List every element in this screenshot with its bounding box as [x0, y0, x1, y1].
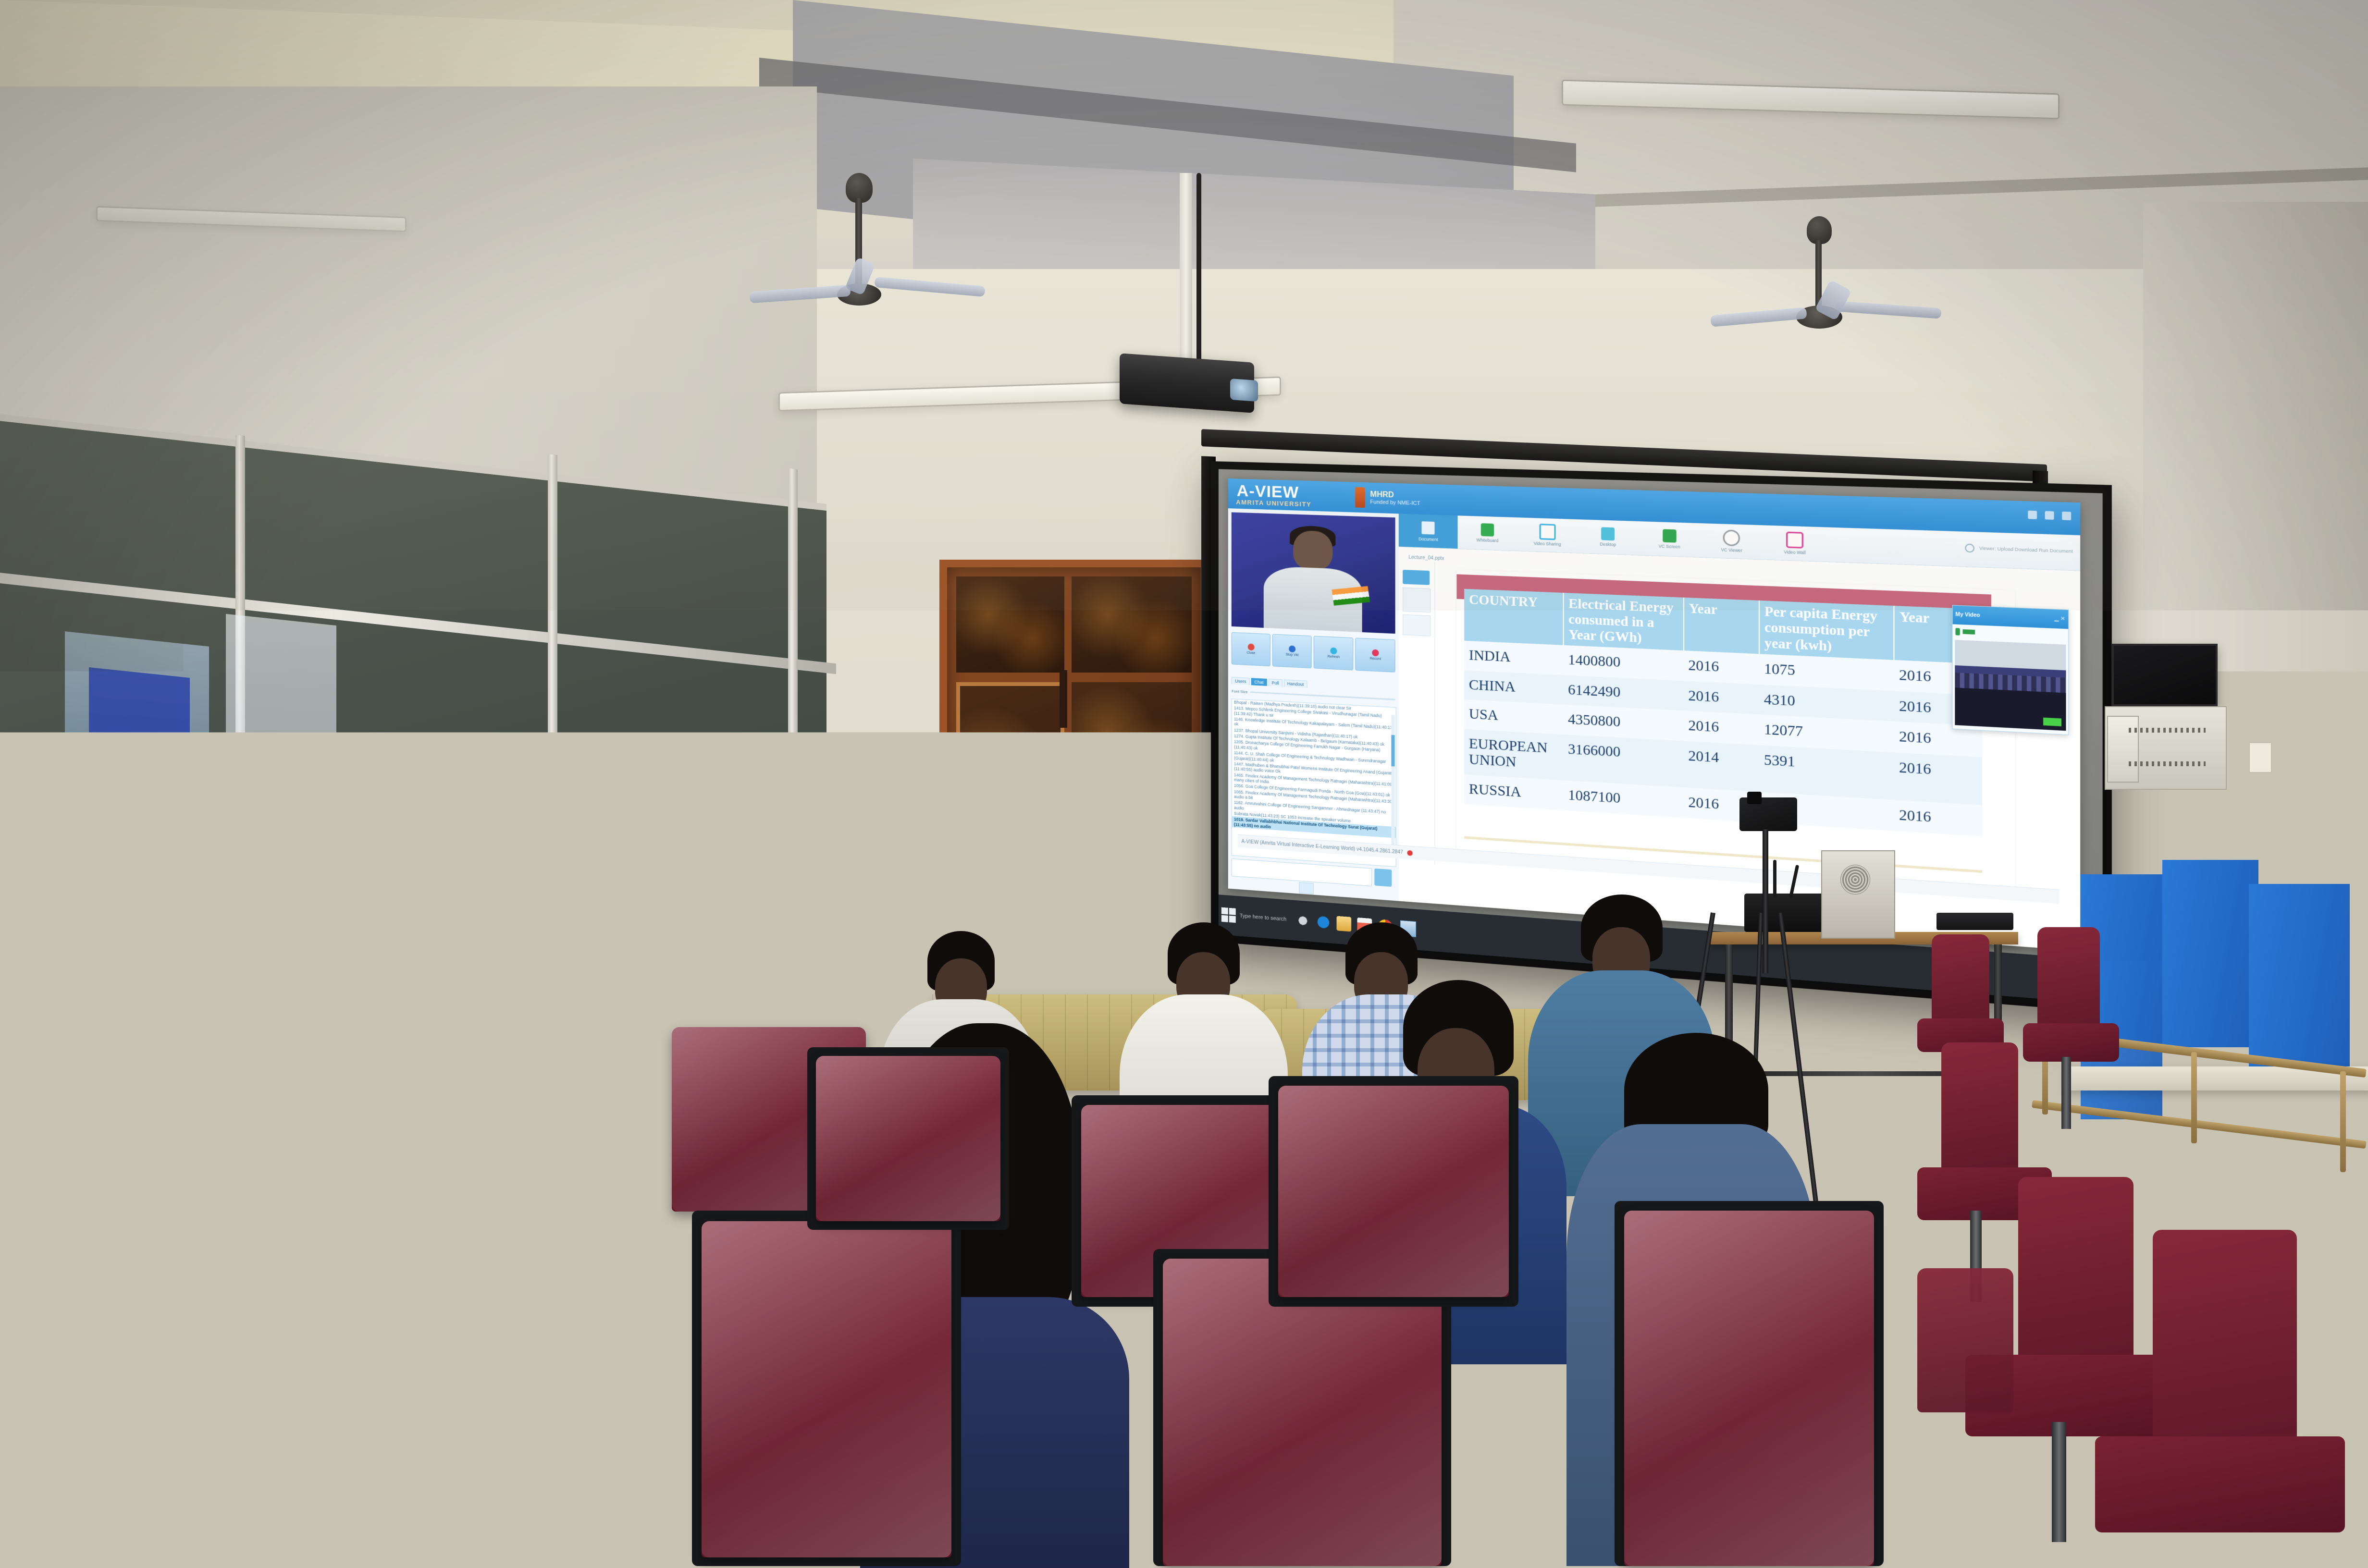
- my-video-title: My Video: [1956, 612, 1980, 619]
- webcam-icon: [625, 854, 648, 881]
- local-camera-feed: [1955, 640, 2066, 731]
- document-name-label: Lecture_04.pptx: [1408, 554, 1444, 561]
- col-country: COUNTRY: [1464, 589, 1563, 645]
- close-icon[interactable]: [2062, 511, 2071, 520]
- mhrd-text: MHRD: [1370, 490, 1394, 499]
- toolbar-tab-desktop[interactable]: Desktop: [1578, 519, 1639, 555]
- stop-video-button[interactable]: Stop Vid: [1272, 634, 1312, 668]
- toolbar-tab-video-wall-label: Video Wall: [1784, 549, 1805, 555]
- office-chair-post: [2052, 1422, 2066, 1542]
- edge-icon[interactable]: [1316, 915, 1331, 931]
- classroom-photo-scene: A-VIEW AMRITA UNIVERSITY MHRD Funded by …: [0, 0, 2368, 1568]
- maximize-icon[interactable]: [2045, 511, 2054, 519]
- office-chair-back: [2037, 927, 2100, 1038]
- desktop-computer: [1821, 850, 1895, 939]
- aview-window[interactable]: A-VIEW AMRITA UNIVERSITY MHRD Funded by …: [1228, 478, 2080, 951]
- pc-fan-grille: [1840, 865, 1870, 894]
- cell-country: RUSSIA: [1464, 774, 1563, 810]
- aview-logo-subtitle: AMRITA UNIVERSITY: [1236, 499, 1311, 507]
- office-chair-back: [1917, 1268, 2013, 1412]
- refresh-label: Refresh: [1328, 655, 1340, 659]
- projector-mount: [1180, 173, 1192, 365]
- toolbar-tab-vc-viewer-label: VC Viewer: [1721, 547, 1742, 553]
- wall-mounted-tv: [2112, 644, 2218, 706]
- record-button[interactable]: Record: [1356, 637, 1395, 672]
- desktop-computer: [0, 942, 62, 1100]
- start-button-icon[interactable]: [1221, 907, 1236, 923]
- energy-consumption-table: COUNTRY Electrical Energy consumed in a …: [1464, 589, 1982, 836]
- document-icon: [1421, 520, 1436, 536]
- add-document-button[interactable]: [1403, 570, 1430, 585]
- sidebar-thumb-slide[interactable]: [1403, 614, 1431, 636]
- audience-silhouettes: [1955, 673, 2066, 693]
- presenter-control-buttons[interactable]: Close Stop Vid Refresh Record: [1232, 632, 1395, 673]
- col-year-1: Year: [1684, 598, 1759, 654]
- cell-country: EUROPEAN UNION: [1464, 729, 1563, 781]
- toolbar-tab-vc-viewer[interactable]: VC Viewer: [1701, 523, 1763, 559]
- video-wall-icon: [1786, 531, 1803, 548]
- desktop-computer: [139, 927, 216, 1086]
- cell-energy: 3166000: [1563, 735, 1683, 787]
- presenter-video-feed[interactable]: [1232, 512, 1395, 634]
- presenter-head: [1293, 530, 1332, 571]
- webcam-icon: [589, 860, 612, 887]
- cell-year-1: 2016: [1684, 711, 1759, 746]
- vc-viewer-icon: [1723, 529, 1740, 546]
- tripod-column: [1763, 829, 1768, 973]
- toolbar-tab-desktop-label: Desktop: [1600, 541, 1616, 547]
- tab-users[interactable]: Users: [1232, 677, 1249, 685]
- close-dot-icon: [1247, 643, 1254, 650]
- network-cabinet-vents: [2129, 761, 2206, 766]
- close-stream-label: Close: [1247, 651, 1256, 655]
- network-cabinet-door: [2107, 716, 2139, 783]
- webcam-icon: [178, 903, 203, 932]
- camera-status-indicator: [2043, 718, 2061, 726]
- viewer-actions-label: Viewer: Upload Download Run Document: [1979, 546, 2073, 554]
- cell-country: CHINA: [1464, 670, 1563, 705]
- video-sharing-icon: [1539, 524, 1555, 540]
- record-dot-icon: [1372, 649, 1379, 656]
- refresh-button[interactable]: Refresh: [1314, 636, 1354, 670]
- toolbar-tab-video-sharing[interactable]: Video Sharing: [1517, 517, 1577, 553]
- vc-screen-icon: [1663, 529, 1676, 542]
- keyboard: [1936, 913, 2013, 930]
- railing-post: [2340, 1071, 2346, 1172]
- mic-toggle[interactable]: [1299, 882, 1314, 894]
- cell-country: USA: [1464, 699, 1563, 735]
- office-chair-seat: [2095, 1436, 2345, 1532]
- recording-indicator-icon: [1407, 850, 1412, 856]
- aview-logo: A-VIEW: [1237, 482, 1312, 501]
- office-chair-back: [2153, 1230, 2297, 1460]
- my-video-panel[interactable]: My Video ▁ ✕: [1952, 605, 2069, 735]
- signal-bar-icon: [1963, 629, 1975, 635]
- cell-year-1: 2014: [1684, 741, 1759, 792]
- toolbar-tab-whiteboard[interactable]: Whiteboard: [1458, 515, 1517, 551]
- toolbar-tab-whiteboard-label: Whiteboard: [1477, 537, 1499, 543]
- refresh-dot-icon: [1330, 647, 1337, 654]
- font-size-label: Font Size: [1232, 689, 1248, 694]
- taskbar-search-label[interactable]: Type here to search: [1240, 913, 1287, 922]
- wall-poster-inner: [89, 667, 190, 745]
- toolbar-tab-vc-screen-label: VC Screen: [1659, 543, 1680, 549]
- file-explorer-icon[interactable]: [1337, 916, 1352, 932]
- record-label: Record: [1370, 657, 1381, 661]
- microphone-icon[interactable]: [1956, 628, 1960, 636]
- wifi-router: [1744, 894, 1831, 932]
- lab-partition: [2162, 860, 2258, 1047]
- search-icon[interactable]: [1965, 543, 1975, 552]
- toolbar-tab-vc-screen[interactable]: VC Screen: [1639, 521, 1701, 557]
- tab-chat[interactable]: Chat: [1251, 678, 1267, 686]
- wall-power-socket: [2249, 742, 2272, 773]
- mhrd-emblem-icon: [1356, 487, 1365, 508]
- cell-year-1: 2016: [1684, 681, 1759, 715]
- presenter-desk-flag: [1332, 586, 1370, 605]
- projector-lens: [1230, 379, 1258, 402]
- office-chair-post: [2061, 1057, 2071, 1129]
- router-antenna: [1773, 860, 1776, 897]
- cortana-icon[interactable]: [1295, 913, 1310, 929]
- sidebar-thumb-library[interactable]: [1403, 588, 1431, 613]
- tab-poll[interactable]: Poll: [1269, 679, 1283, 687]
- railing-post: [2191, 1052, 2197, 1143]
- chat-scrollbar-thumb[interactable]: [1391, 735, 1394, 766]
- presentation-slide: COUNTRY Electrical Energy consumed in a …: [1456, 570, 2015, 896]
- col-per-capita: Per capita Energy consumption per year (…: [1759, 600, 1894, 660]
- ac-run-led: [1115, 888, 1122, 894]
- cell-year-2: 2016: [1894, 800, 1983, 836]
- office-chair-seat: [2023, 1023, 2119, 1062]
- close-stream-button[interactable]: Close: [1232, 632, 1270, 666]
- toolbar-tab-video-wall[interactable]: Video Wall: [1763, 525, 1826, 562]
- toolbar-tab-video-sharing-label: Video Sharing: [1534, 541, 1561, 547]
- font-size-slider[interactable]: [1250, 691, 1395, 700]
- stop-video-label: Stop Vid: [1286, 653, 1299, 657]
- network-cabinet-vents: [2129, 728, 2206, 733]
- my-video-close-icon[interactable]: ▁ ✕: [2055, 616, 2065, 622]
- webcam-icon: [19, 918, 44, 946]
- funded-by-text: Funded by NME-ICT: [1370, 499, 1420, 507]
- toolbar-tab-document[interactable]: Document: [1399, 514, 1457, 549]
- toolbar-tab-document-label: Document: [1418, 536, 1438, 542]
- office-chair-back: [2018, 1177, 2134, 1379]
- whiteboard-icon: [1481, 523, 1494, 537]
- camera-viewfinder: [1747, 792, 1762, 804]
- window-controls[interactable]: [2028, 510, 2071, 520]
- panel-divider: [1435, 562, 1435, 865]
- tab-handout[interactable]: Handout: [1284, 679, 1307, 688]
- cell-per-capita: 5391: [1759, 745, 1894, 800]
- notepad-page: [2, 1344, 118, 1413]
- col-electrical-energy: Electrical Energy consumed in a Year (GW…: [1563, 593, 1683, 650]
- cell-country: INDIA: [1464, 640, 1563, 674]
- cell-energy: 1087100: [1563, 781, 1683, 818]
- chat-scrollbar[interactable]: [1391, 715, 1394, 858]
- desktop-icon: [1601, 527, 1615, 540]
- chat-send-button[interactable]: [1375, 869, 1392, 887]
- projector-cable: [1196, 173, 1201, 370]
- minimize-icon[interactable]: [2028, 510, 2037, 519]
- wall-notice: [226, 614, 336, 866]
- mhrd-label: MHRD Funded by NME-ICT: [1370, 490, 1420, 507]
- ac-fan-vent: [1147, 822, 1185, 885]
- office-chair-back: [1941, 1042, 2018, 1182]
- cell-year-1: 2016: [1684, 650, 1759, 685]
- ac-power-led: [1100, 888, 1107, 894]
- stop-video-dot-icon: [1289, 645, 1295, 652]
- cell-year-2: 2016: [1894, 753, 1983, 806]
- ac-grille: [1055, 822, 1141, 885]
